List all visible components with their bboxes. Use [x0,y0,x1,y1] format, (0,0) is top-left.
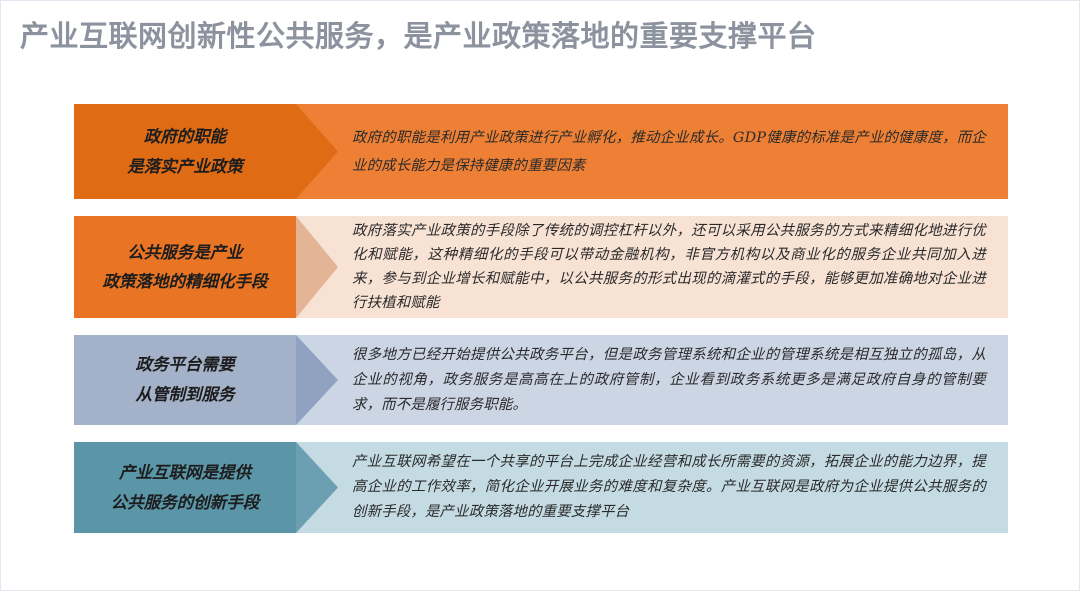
row-body-text: 很多地方已经开始提供公共政务平台，但是政务管理系统和企业的管理系统是相互独立的孤… [352,343,986,418]
row-label-text: 公共服务是产业 政策落地的精细化手段 [103,238,268,296]
process-row: 政务平台需要 从管制到服务 很多地方已经开始提供公共政务平台，但是政务管理系统和… [74,335,1008,425]
row-label-box[interactable]: 政府的职能 是落实产业政策 [74,104,296,199]
row-body-text: 政府的职能是利用产业政策进行产业孵化，推动企业成长。GDP健康的标准是产业的健康… [352,124,986,180]
row-label-text: 政务平台需要 从管制到服务 [136,350,235,410]
row-gap [296,335,304,425]
process-row: 产业互联网是提供 公共服务的创新手段 产业互联网希望在一个共享的平台上完成企业经… [74,442,1008,533]
row-label-box[interactable]: 公共服务是产业 政策落地的精细化手段 [74,216,296,318]
row-label-box[interactable]: 政务平台需要 从管制到服务 [74,335,296,425]
process-row: 公共服务是产业 政策落地的精细化手段 政府落实产业政策的手段除了传统的调控杠杆以… [74,216,1008,318]
row-gap [296,216,304,318]
row-body-text: 政府落实产业政策的手段除了传统的调控杠杆以外，还可以采用公共服务的方式来精细化地… [352,219,986,315]
row-body-box[interactable]: 很多地方已经开始提供公共政务平台，但是政务管理系统和企业的管理系统是相互独立的孤… [304,335,1008,425]
row-body-box[interactable]: 产业互联网希望在一个共享的平台上完成企业经营和成长所需要的资源，拓展企业的能力边… [304,442,1008,533]
row-body-box[interactable]: 政府的职能是利用产业政策进行产业孵化，推动企业成长。GDP健康的标准是产业的健康… [304,104,1008,199]
row-body-text: 产业互联网希望在一个共享的平台上完成企业经营和成长所需要的资源，拓展企业的能力边… [352,450,986,525]
process-rows: 政府的职能 是落实产业政策 政府的职能是利用产业政策进行产业孵化，推动企业成长。… [74,104,1008,550]
row-label-text: 政府的职能 是落实产业政策 [127,122,243,182]
row-gap [296,104,304,199]
page-title: 产业互联网创新性公共服务，是产业政策落地的重要支撑平台 [20,17,1040,57]
row-label-box[interactable]: 产业互联网是提供 公共服务的创新手段 [74,442,296,533]
process-row: 政府的职能 是落实产业政策 政府的职能是利用产业政策进行产业孵化，推动企业成长。… [74,104,1008,199]
slide-canvas: 产业互联网创新性公共服务，是产业政策落地的重要支撑平台 政府的职能 是落实产业政… [0,0,1080,591]
row-gap [296,442,304,533]
row-label-text: 产业互联网是提供 公共服务的创新手段 [111,458,260,518]
row-body-box[interactable]: 政府落实产业政策的手段除了传统的调控杠杆以外，还可以采用公共服务的方式来精细化地… [304,216,1008,318]
